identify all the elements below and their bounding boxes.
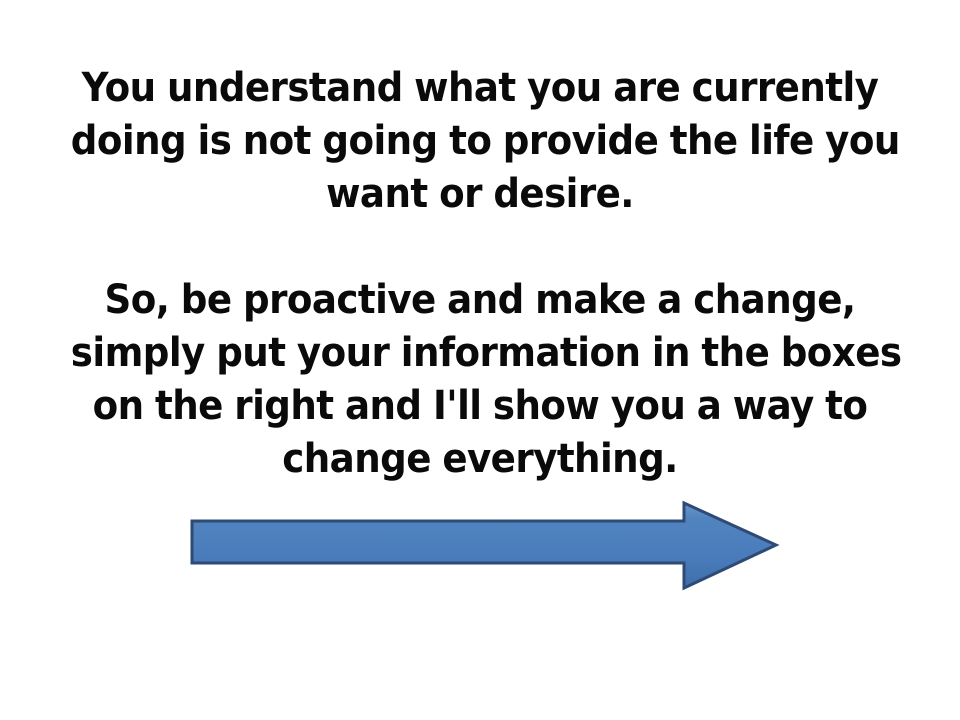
- paragraph-2: So, be proactive and make a change, simp…: [71, 274, 889, 486]
- paragraph-2-line-2: simply put your information in the boxes: [71, 327, 889, 380]
- right-arrow-polygon: [192, 503, 776, 588]
- slide-text-body: You understand what you are currently do…: [40, 62, 920, 486]
- right-arrow-icon: [188, 499, 780, 593]
- paragraph-2-line-3: on the right and I'll show you a way to: [71, 380, 889, 433]
- paragraph-1-line-3: want or desire.: [71, 168, 889, 221]
- paragraph-2-line-1: So, be proactive and make a change,: [71, 274, 889, 327]
- paragraph-2-line-4: change everything.: [71, 433, 889, 486]
- paragraph-1-line-2: doing is not going to provide the life y…: [71, 115, 889, 168]
- paragraph-spacer: [40, 221, 920, 274]
- right-arrow-svg: [188, 499, 780, 593]
- paragraph-1: You understand what you are currently do…: [71, 62, 889, 221]
- slide-canvas: You understand what you are currently do…: [0, 0, 960, 720]
- paragraph-1-line-1: You understand what you are currently: [71, 62, 889, 115]
